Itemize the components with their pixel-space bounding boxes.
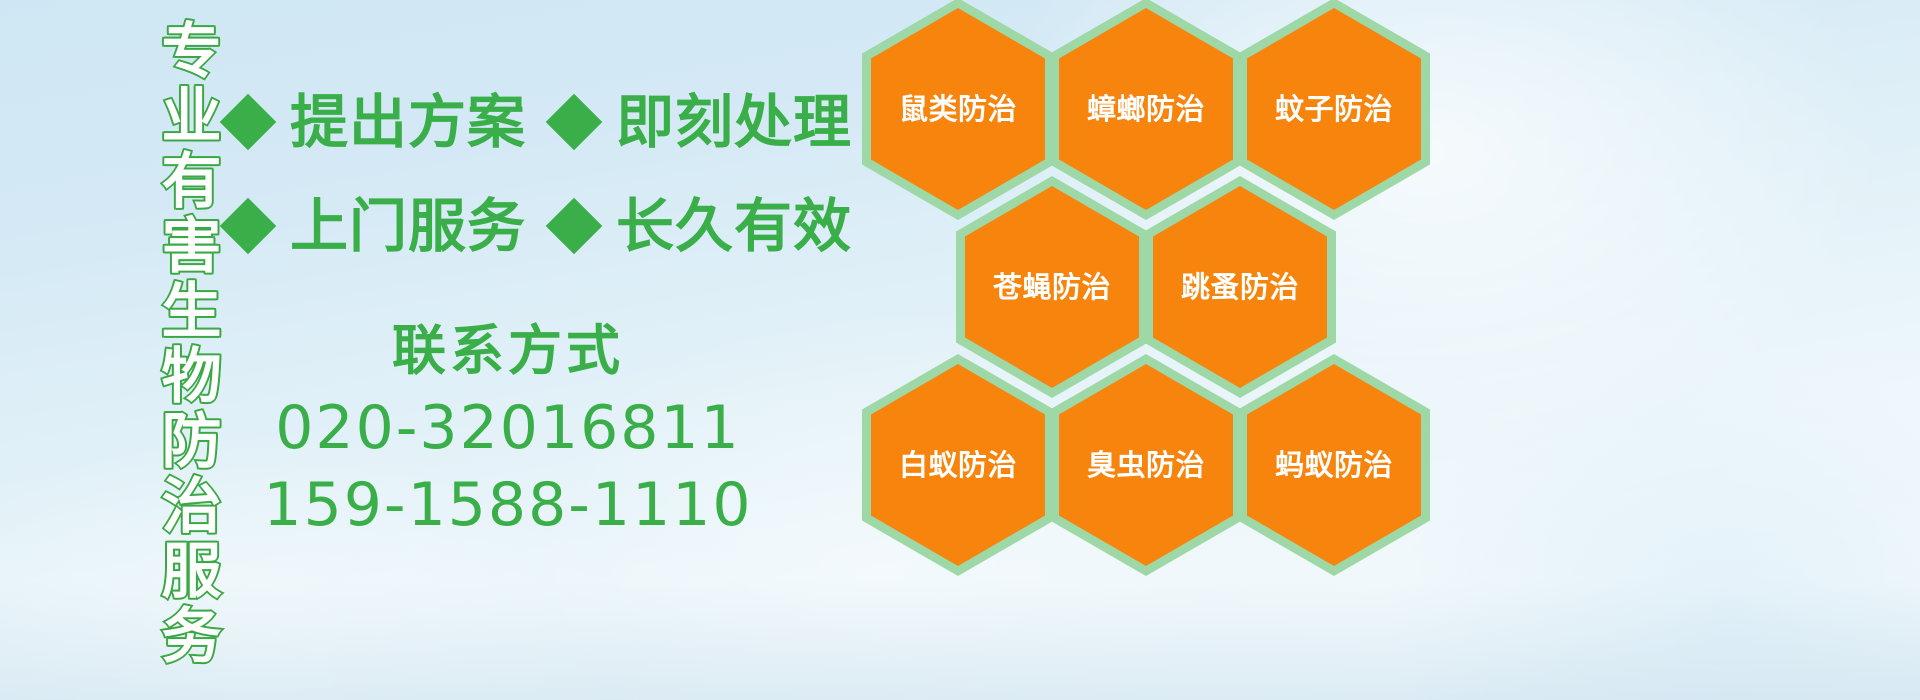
contact-block: 联系方式 020-32016811 159-1588-1110 [228, 320, 788, 544]
service-label: 蟑螂防治 [1087, 95, 1205, 124]
vertical-headline: 专业有害生物防治服务 [112, 14, 216, 674]
pest-control-banner: 专业有害生物防治服务 提出方案 即刻处理 上门服务 长久有效 联系方式 [0, 0, 1920, 700]
feature-label: 长久有效 [616, 197, 852, 255]
feature-item-propose-plan: 提出方案 [228, 93, 526, 151]
diamond-icon [220, 94, 277, 151]
feature-label: 提出方案 [290, 93, 526, 151]
service-hexagon-bedbug[interactable]: 臭虫防治 [1050, 354, 1242, 576]
service-label: 苍蝇防治 [993, 273, 1111, 302]
service-hexagon-grid: 鼠类防治 蟑螂防治 蚊子防治 苍蝇防治 跳蚤防治 [862, 0, 1462, 554]
contact-heading: 联系方式 [228, 320, 788, 382]
feature-item-onsite-service: 上门服务 [228, 197, 526, 255]
feature-item-immediate-handling: 即刻处理 [554, 93, 852, 151]
service-label: 蚊子防治 [1275, 95, 1393, 124]
feature-label: 上门服务 [290, 197, 526, 255]
left-content-panel: 提出方案 即刻处理 上门服务 长久有效 联系方式 020-32016811 15… [228, 70, 868, 630]
service-hexagon-ant[interactable]: 蚂蚁防治 [1238, 354, 1430, 576]
diamond-icon [546, 198, 603, 255]
diamond-icon [220, 198, 277, 255]
service-label: 蚂蚁防治 [1275, 451, 1393, 480]
service-label: 臭虫防治 [1087, 451, 1205, 480]
diamond-icon [546, 94, 603, 151]
service-label: 鼠类防治 [899, 95, 1017, 124]
hexagon-row-bottom: 白蚁防治 臭虫防治 蚂蚁防治 [862, 354, 1426, 576]
service-label: 跳蚤防治 [1181, 273, 1299, 302]
service-label: 白蚁防治 [899, 451, 1017, 480]
phone-landline[interactable]: 020-32016811 [228, 390, 788, 467]
feature-item-long-lasting: 长久有效 [554, 197, 852, 255]
service-hexagon-termite[interactable]: 白蚁防治 [862, 354, 1054, 576]
phone-mobile[interactable]: 159-1588-1110 [228, 467, 788, 544]
feature-row-1: 提出方案 即刻处理 [228, 70, 868, 174]
feature-label: 即刻处理 [616, 93, 852, 151]
feature-row-2: 上门服务 长久有效 [228, 174, 868, 278]
